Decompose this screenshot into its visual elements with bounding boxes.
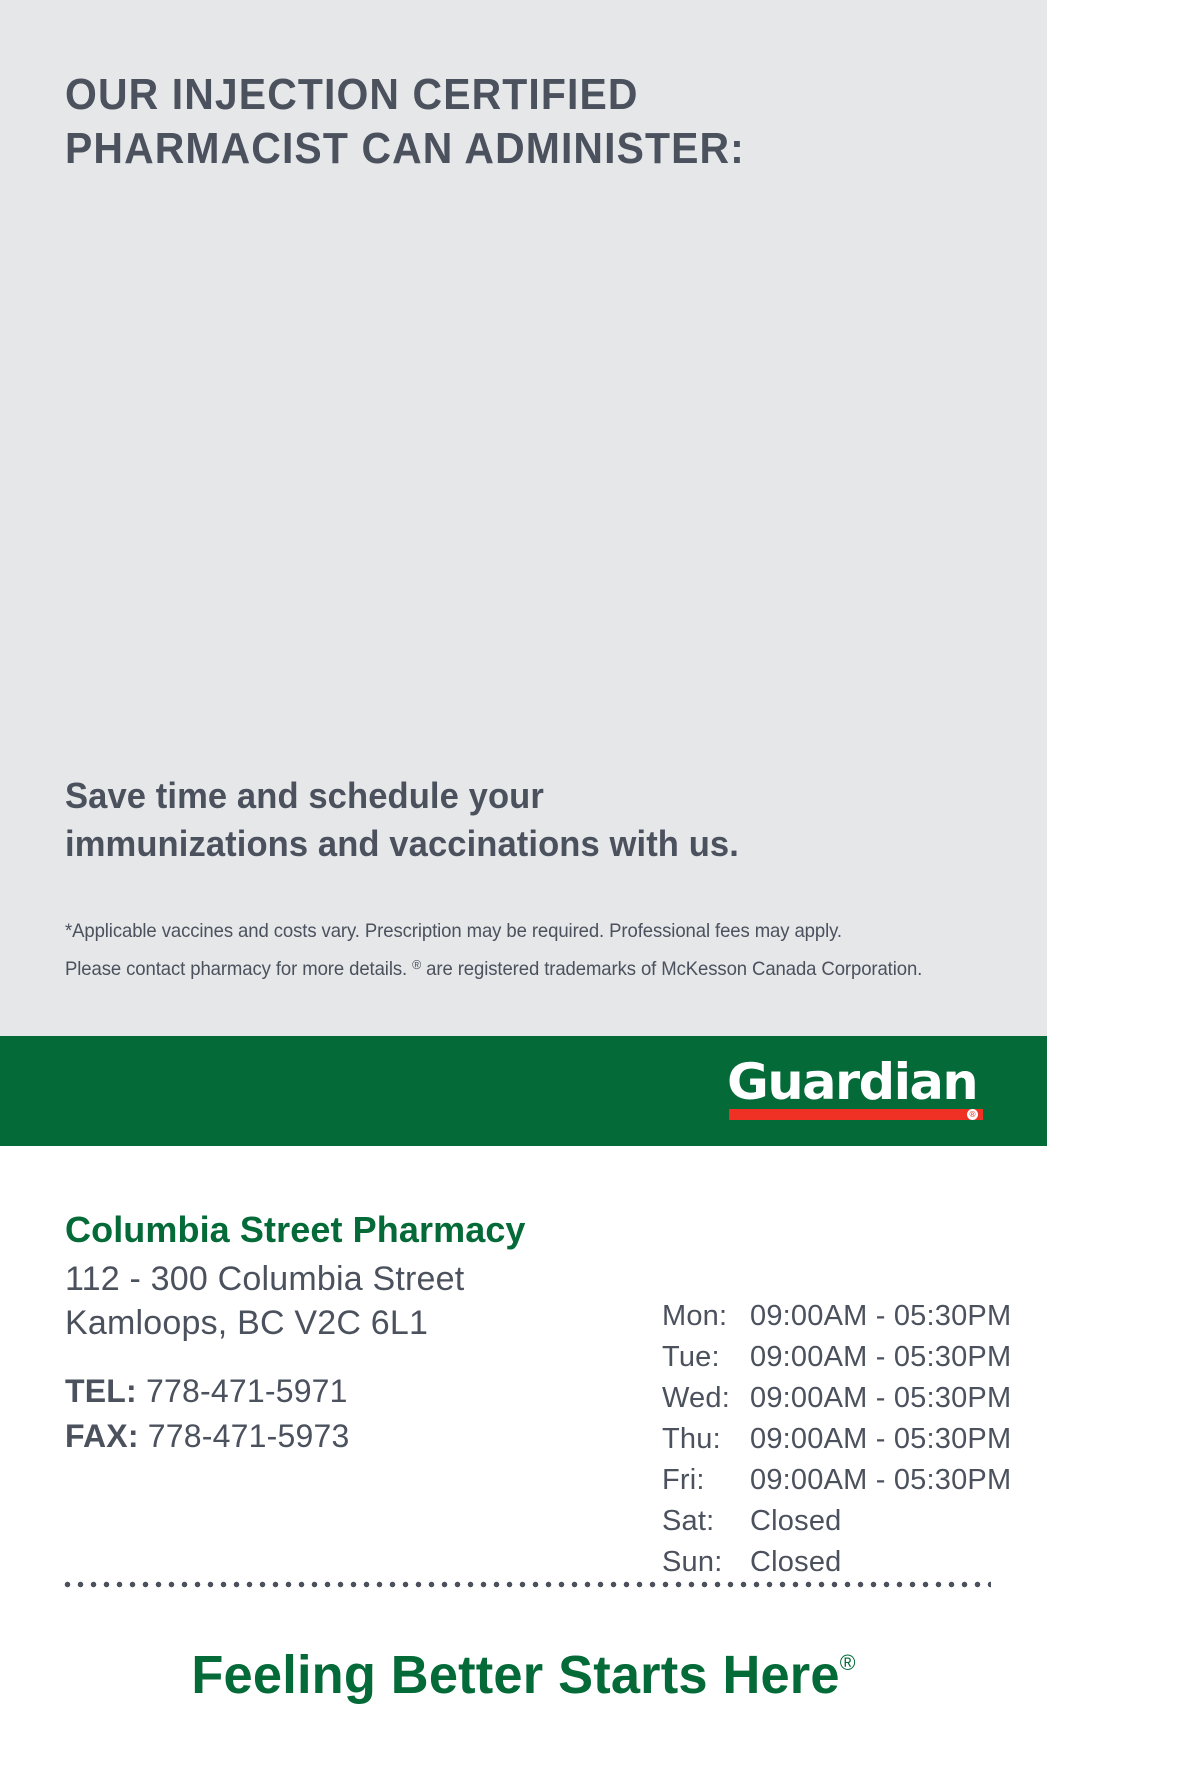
- store-address: 112 - 300 Columbia Street Kamloops, BC V…: [65, 1257, 625, 1345]
- store-telephone[interactable]: TEL: 778-471-5971: [65, 1369, 625, 1414]
- telephone-label: TEL:: [65, 1373, 137, 1409]
- store-contact: TEL: 778-471-5971 FAX: 778-471-5973: [65, 1369, 625, 1459]
- store-info: Columbia Street Pharmacy 112 - 300 Colum…: [65, 1207, 625, 1459]
- tagline-registered-icon: ®: [840, 1650, 856, 1675]
- subheadline-line-2: immunizations and vaccinations with us.: [65, 820, 891, 868]
- hours-day-label: Tue:: [662, 1337, 750, 1378]
- hours-time-value: 09:00AM - 05:30PM: [750, 1460, 1014, 1501]
- hours-day-label: Thu:: [662, 1419, 750, 1460]
- page-title: OUR INJECTION CERTIFIED PHARMACIST CAN A…: [65, 68, 902, 176]
- guardian-logo-underline: [729, 1109, 983, 1120]
- telephone-value: 778-471-5971: [146, 1373, 348, 1409]
- hours-row: Sat: Closed: [662, 1501, 1014, 1542]
- hero-panel: OUR INJECTION CERTIFIED PHARMACIST CAN A…: [0, 0, 1047, 1036]
- hours-day-label: Sun:: [662, 1542, 750, 1583]
- disclaimer-line-2-before: Please contact pharmacy for more details…: [65, 958, 412, 980]
- fax-label: FAX:: [65, 1418, 139, 1454]
- hours-row: Tue: 09:00AM - 05:30PM: [662, 1337, 1014, 1378]
- brand-banner: Guardian ®: [0, 1036, 1047, 1146]
- guardian-logo: Guardian ®: [727, 1054, 985, 1128]
- hours-day-label: Fri:: [662, 1460, 750, 1501]
- hours-row: Thu: 09:00AM - 05:30PM: [662, 1419, 1014, 1460]
- page-title-line-2: PHARMACIST CAN ADMINISTER:: [65, 122, 902, 176]
- hours-row: Sun: Closed: [662, 1542, 1014, 1583]
- store-address-line-2: Kamloops, BC V2C 6L1: [65, 1301, 625, 1345]
- fax-value: 778-471-5973: [148, 1418, 350, 1454]
- brand-tagline-text: Feeling Better Starts Here: [191, 1645, 839, 1705]
- disclaimer: *Applicable vaccines and costs vary. Pre…: [65, 915, 977, 986]
- guardian-wordmark: Guardian: [727, 1054, 990, 1110]
- hours-day-label: Mon:: [662, 1296, 750, 1337]
- hours-time-value: Closed: [750, 1542, 1014, 1583]
- hours-time-value: Closed: [750, 1501, 1014, 1542]
- disclaimer-line-2: Please contact pharmacy for more details…: [65, 948, 977, 986]
- hours-day-label: Sat:: [662, 1501, 750, 1542]
- hours-row: Wed: 09:00AM - 05:30PM: [662, 1378, 1014, 1419]
- registered-trademark-icon: ®: [412, 957, 421, 972]
- subheadline: Save time and schedule your immunization…: [65, 772, 891, 868]
- hours-day-label: Wed:: [662, 1378, 750, 1419]
- store-name: Columbia Street Pharmacy: [65, 1207, 625, 1253]
- hours-time-value: 09:00AM - 05:30PM: [750, 1419, 1014, 1460]
- pharmacy-flyer-page: OUR INJECTION CERTIFIED PHARMACIST CAN A…: [0, 0, 1192, 1785]
- store-fax: FAX: 778-471-5973: [65, 1414, 625, 1459]
- hours-time-value: 09:00AM - 05:30PM: [750, 1337, 1014, 1378]
- hours-row: Mon: 09:00AM - 05:30PM: [662, 1296, 1014, 1337]
- store-address-line-1: 112 - 300 Columbia Street: [65, 1257, 625, 1301]
- brand-tagline: Feeling Better Starts Here®: [16, 1630, 1032, 1708]
- guardian-registered-icon: ®: [967, 1109, 978, 1120]
- subheadline-line-1: Save time and schedule your: [65, 772, 891, 820]
- disclaimer-line-2-after: are registered trademarks of McKesson Ca…: [421, 958, 922, 980]
- hours-time-value: 09:00AM - 05:30PM: [750, 1378, 1014, 1419]
- hours-row: Fri: 09:00AM - 05:30PM: [662, 1460, 1014, 1501]
- dotted-divider: [61, 1581, 991, 1588]
- store-hours: Mon: 09:00AM - 05:30PM Tue: 09:00AM - 05…: [662, 1296, 1014, 1583]
- page-title-line-1: OUR INJECTION CERTIFIED: [65, 68, 902, 122]
- disclaimer-line-1: *Applicable vaccines and costs vary. Pre…: [65, 915, 977, 948]
- hours-time-value: 09:00AM - 05:30PM: [750, 1296, 1014, 1337]
